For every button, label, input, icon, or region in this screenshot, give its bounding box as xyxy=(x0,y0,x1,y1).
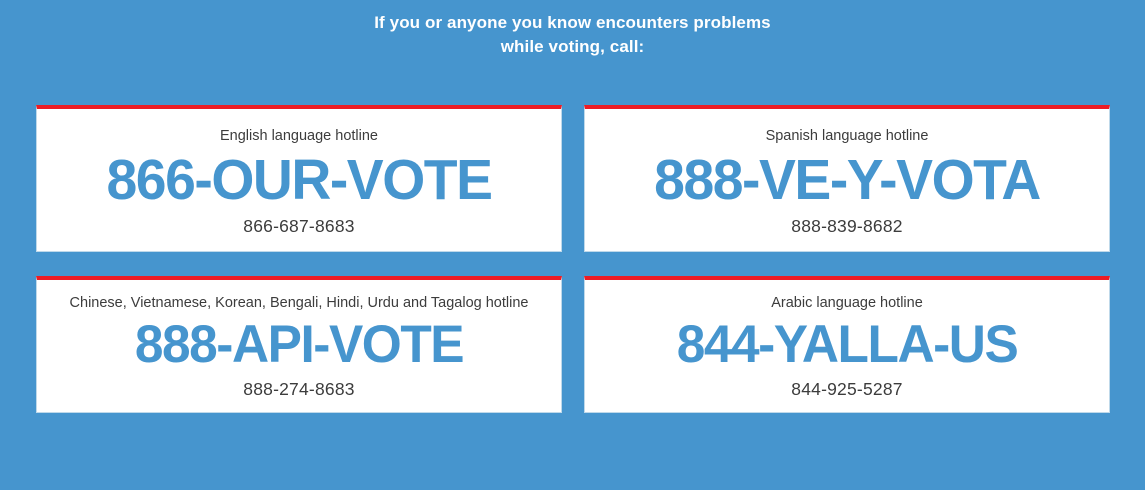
hotline-subtitle: Arabic language hotline xyxy=(595,294,1099,312)
hotline-vanity-number[interactable]: 888-VE-Y-VOTA xyxy=(603,147,1092,213)
hotline-digits[interactable]: 888-274-8683 xyxy=(47,378,551,400)
hotline-digits[interactable]: 888-839-8682 xyxy=(595,215,1099,237)
header-line-2: while voting, call: xyxy=(0,35,1145,59)
hotline-digits[interactable]: 866-687-8683 xyxy=(47,215,551,237)
page-header: If you or anyone you know encounters pro… xyxy=(0,0,1145,59)
hotline-digits[interactable]: 844-925-5287 xyxy=(595,378,1099,400)
hotline-subtitle: Chinese, Vietnamese, Korean, Bengali, Hi… xyxy=(47,294,551,312)
hotline-card-grid: English language hotline 866-OUR-VOTE 86… xyxy=(36,105,1110,413)
hotline-vanity-number[interactable]: 866-OUR-VOTE xyxy=(55,147,544,213)
hotline-vanity-number[interactable]: 888-API-VOTE xyxy=(55,314,544,376)
hotline-card-spanish[interactable]: Spanish language hotline 888-VE-Y-VOTA 8… xyxy=(584,105,1110,252)
hotline-subtitle: Spanish language hotline xyxy=(595,127,1099,145)
hotline-subtitle: English language hotline xyxy=(47,127,551,145)
hotline-card-arabic[interactable]: Arabic language hotline 844-YALLA-US 844… xyxy=(584,276,1110,413)
voting-hotlines-page: If you or anyone you know encounters pro… xyxy=(0,0,1145,490)
hotline-card-asian-languages[interactable]: Chinese, Vietnamese, Korean, Bengali, Hi… xyxy=(36,276,562,413)
hotline-card-english[interactable]: English language hotline 866-OUR-VOTE 86… xyxy=(36,105,562,252)
hotline-vanity-number[interactable]: 844-YALLA-US xyxy=(603,314,1092,376)
header-line-1: If you or anyone you know encounters pro… xyxy=(0,11,1145,35)
